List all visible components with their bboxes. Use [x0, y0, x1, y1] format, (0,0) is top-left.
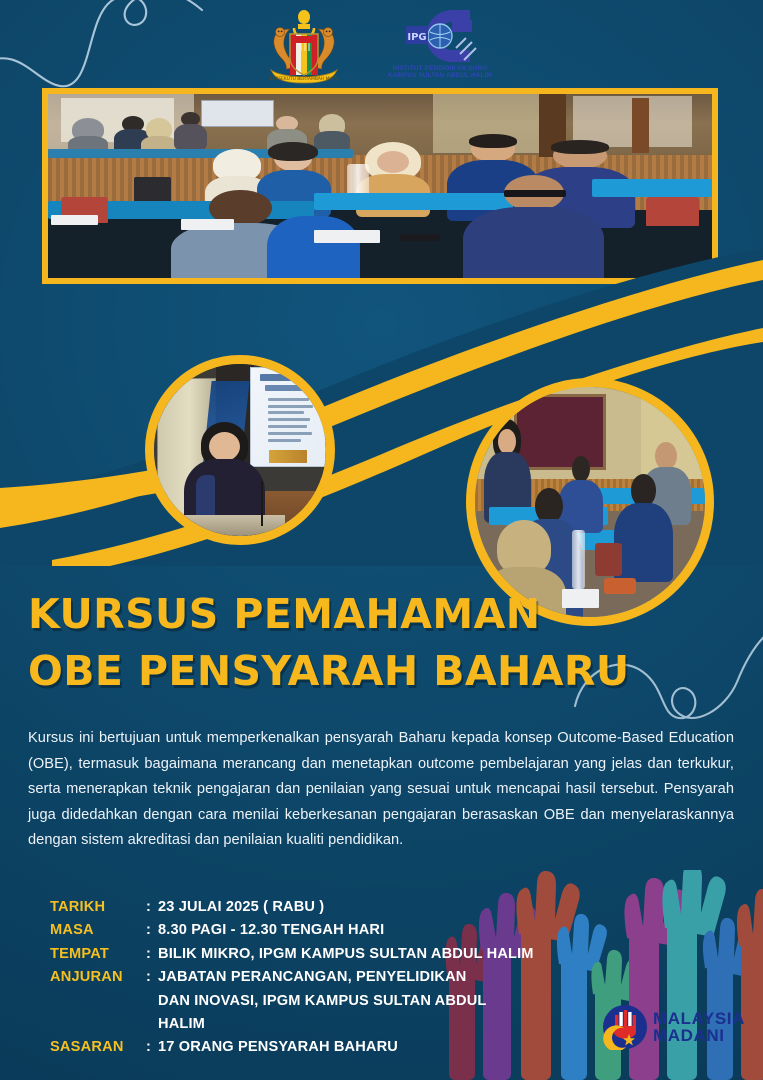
hero-photo-frame — [42, 88, 718, 284]
detail-label-anjuran: ANJURAN — [50, 966, 146, 989]
svg-text:BERSEKUTU BERTAMBAH MUTU: BERSEKUTU BERTAMBAH MUTU — [269, 76, 338, 82]
title-line-1: KURSUS PEMAHAMAN — [28, 586, 630, 643]
detail-value-tempat: BILIK MIKRO, IPGM KAMPUS SULTAN ABDUL HA… — [158, 943, 534, 966]
detail-row-masa: MASA : 8.30 PAGI - 12.30 TENGAH HARI — [50, 919, 534, 942]
ipg-logo: IPG INSTITUT PENDIDIKAN GURU KAMPUS SULT… — [377, 8, 503, 88]
jata-negara-coat-of-arms-icon: BERSEKUTU BERTAMBAH MUTU — [261, 8, 347, 86]
detail-label-masa: MASA — [50, 919, 146, 942]
description-paragraph: Kursus ini bertujuan untuk memperkenalka… — [28, 726, 734, 854]
title-line-2: OBE PENSYARAH BAHARU — [28, 643, 630, 700]
detail-colon: : — [146, 966, 158, 989]
detail-row-sasaran: SASARAN : 17 ORANG PENSYARAH BAHARU — [50, 1036, 534, 1059]
ipg-emblem-icon: IPG — [392, 8, 488, 64]
detail-value-anjuran-line2: DAN INOVASI, IPGM KAMPUS SULTAN ABDUL — [50, 990, 534, 1013]
detail-value-sasaran: 17 ORANG PENSYARAH BAHARU — [158, 1036, 398, 1059]
hero-photo-seminar-participants — [48, 94, 712, 278]
detail-value-masa: 8.30 PAGI - 12.30 TENGAH HARI — [158, 919, 384, 942]
detail-row-tempat: TEMPAT : BILIK MIKRO, IPGM KAMPUS SULTAN… — [50, 943, 534, 966]
detail-value-tarikh: 23 JULAI 2025 ( RABU ) — [158, 896, 324, 919]
detail-colon: : — [146, 1036, 158, 1059]
detail-row-anjuran: ANJURAN : JABATAN PERANCANGAN, PENYELIDI… — [50, 966, 534, 989]
poster-canvas: BERSEKUTU BERTAMBAH MUTU IPG — [0, 0, 763, 1080]
event-details-list: TARIKH : 23 JULAI 2025 ( RABU ) MASA : 8… — [50, 896, 534, 1060]
detail-label-tempat: TEMPAT — [50, 943, 146, 966]
detail-row-tarikh: TARIKH : 23 JULAI 2025 ( RABU ) — [50, 896, 534, 919]
madani-hand-crescent-icon — [602, 1004, 648, 1050]
madani-text-line-2: MADANI — [653, 1027, 745, 1044]
madani-text-line-1: MALAYSIA — [653, 1010, 745, 1027]
detail-value-anjuran-line3: HALIM — [50, 1013, 534, 1036]
svg-text:IPG: IPG — [407, 32, 426, 43]
ipg-name-line-1: INSTITUT PENDIDIKAN GURU — [375, 65, 504, 72]
malaysia-madani-logo: MALAYSIA MADANI — [602, 1004, 745, 1050]
detail-colon: : — [146, 896, 158, 919]
header-logos: BERSEKUTU BERTAMBAH MUTU IPG — [0, 8, 763, 88]
detail-value-anjuran: JABATAN PERANCANGAN, PENYELIDIKAN — [158, 966, 466, 989]
detail-label-sasaran: SASARAN — [50, 1036, 146, 1059]
detail-colon: : — [146, 919, 158, 942]
ipg-name-line-2: KAMPUS SULTAN ABDUL HALIM — [375, 72, 504, 79]
poster-title: KURSUS PEMAHAMAN OBE PENSYARAH BAHARU — [28, 586, 630, 700]
circle-photo-presenter — [145, 355, 335, 545]
detail-colon: : — [146, 943, 158, 966]
detail-label-tarikh: TARIKH — [50, 896, 146, 919]
